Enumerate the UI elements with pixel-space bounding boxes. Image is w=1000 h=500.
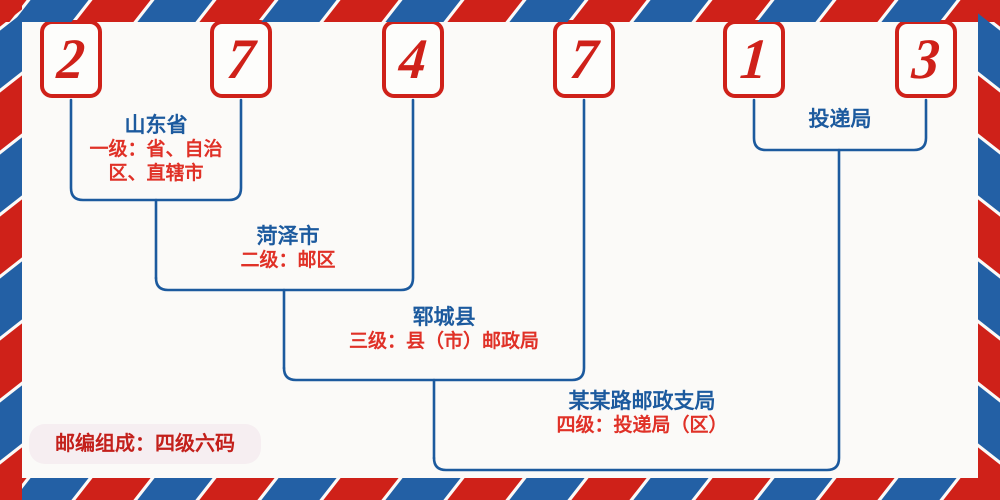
digit-glyph: 1 (724, 22, 784, 96)
delivery-bureau-label: 投递局 (770, 107, 910, 132)
level-3-title: 郓城县 (309, 305, 579, 330)
summary-badge: 邮编组成：四级六码 (29, 424, 261, 464)
digit-glyph: 3 (896, 22, 956, 96)
envelope-border-right (978, 0, 1000, 500)
digit-glyph: 7 (211, 22, 271, 96)
envelope-border-top (0, 0, 1000, 22)
level-4-title: 某某路邮政支局 (510, 389, 774, 414)
postcode-digit-4[interactable]: 7 (553, 20, 615, 98)
level-4-desc: 四级：投递局（区） (510, 414, 774, 439)
envelope-border-bottom (0, 478, 1000, 500)
postcode-infographic: 2 7 4 7 1 3 山东省 一级：省、自治区、直辖市 菏泽市 二级：邮区 郓… (0, 0, 1000, 500)
digit-glyph: 2 (41, 22, 101, 96)
level-1-desc: 一级：省、自治区、直辖市 (76, 138, 236, 187)
delivery-bureau-title: 投递局 (770, 107, 910, 132)
level-3-desc: 三级：县（市）邮政局 (309, 330, 579, 355)
digit-glyph: 7 (554, 22, 614, 96)
level-2-desc: 二级：邮区 (186, 249, 390, 274)
level-3-label: 郓城县 三级：县（市）邮政局 (309, 305, 579, 354)
level-2-title: 菏泽市 (186, 224, 390, 249)
postcode-digit-5[interactable]: 1 (723, 20, 785, 98)
digit-glyph: 4 (383, 22, 443, 96)
level-1-label: 山东省 一级：省、自治区、直辖市 (76, 113, 236, 187)
postcode-digit-2[interactable]: 7 (210, 20, 272, 98)
level-4-label: 某某路邮政支局 四级：投递局（区） (510, 389, 774, 438)
level-2-label: 菏泽市 二级：邮区 (186, 224, 390, 273)
postcode-digit-3[interactable]: 4 (382, 20, 444, 98)
level-1-title: 山东省 (76, 113, 236, 138)
envelope-border-left (0, 0, 22, 500)
postcode-digit-6[interactable]: 3 (895, 20, 957, 98)
postcode-digit-1[interactable]: 2 (40, 20, 102, 98)
